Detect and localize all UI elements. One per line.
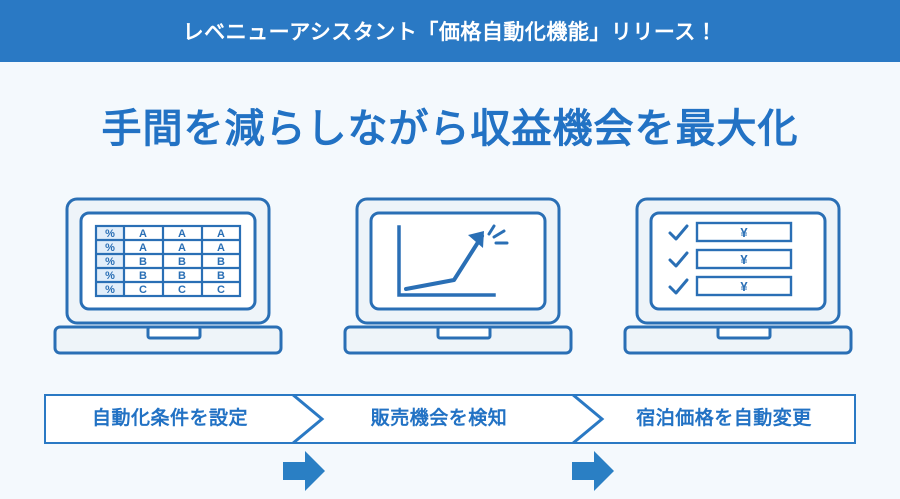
table-cell: A [139, 228, 147, 240]
laptop-trackpad [148, 327, 200, 338]
flow-arrow-2 [570, 448, 616, 494]
table-cell: A [217, 228, 225, 240]
illustration-row: % A A A % A A A % B B B % B [0, 196, 900, 366]
table-cell: B [217, 256, 225, 268]
table-cell: B [178, 270, 186, 282]
laptop-trackpad [718, 327, 770, 338]
table-cell: B [178, 256, 186, 268]
process-step-3[interactable]: 宿泊価格を自動変更 [594, 396, 854, 442]
flow-arrow-1-icon [281, 448, 327, 494]
table-cell: A [139, 242, 147, 254]
process-step-2[interactable]: 販売機会を検知 [314, 396, 564, 442]
table-cell: A [178, 242, 186, 254]
header-band: レベニューアシスタント「価格自動化機能」リリース！ [0, 0, 900, 62]
laptop-trackpad [438, 327, 490, 338]
price-list-laptop: ¥ ¥ ¥ [622, 196, 854, 364]
currency-symbol: ¥ [740, 252, 748, 267]
page-title: 手間を減らしながら収益機会を最大化 [0, 96, 900, 154]
rules-table-laptop-svg: % A A A % A A A % B B B % B [52, 196, 284, 364]
table-cell: % [105, 242, 115, 254]
table-cell: % [105, 284, 115, 296]
currency-symbol: ¥ [740, 225, 748, 240]
table-cell: % [105, 228, 115, 240]
trend-chart-laptop-svg [342, 196, 574, 364]
table-cell: A [178, 228, 186, 240]
rules-table-laptop: % A A A % A A A % B B B % B [52, 196, 284, 364]
table-cell: B [139, 270, 147, 282]
table-cell: C [139, 284, 147, 296]
table-cell: C [217, 284, 225, 296]
header-title: レベニューアシスタント「価格自動化機能」リリース！ [183, 16, 718, 46]
flow-arrow-2-icon [570, 448, 616, 494]
table-cell: B [139, 256, 147, 268]
page-root: レベニューアシスタント「価格自動化機能」リリース！ 手間を減らしながら収益機会を… [0, 0, 900, 496]
trend-chart-laptop [342, 196, 574, 364]
table-cell: % [105, 256, 115, 268]
process-flow-bar: 自動化条件を設定 販売機会を検知 宿泊価格を自動変更 [44, 394, 856, 444]
process-step-1[interactable]: 自動化条件を設定 [46, 396, 294, 442]
table-cell: B [217, 270, 225, 282]
flow-arrow-1 [281, 448, 327, 494]
table-cell: A [217, 242, 225, 254]
table-cell: % [105, 270, 115, 282]
price-list-laptop-svg: ¥ ¥ ¥ [622, 196, 854, 364]
currency-symbol: ¥ [740, 279, 748, 294]
table-cell: C [178, 284, 186, 296]
